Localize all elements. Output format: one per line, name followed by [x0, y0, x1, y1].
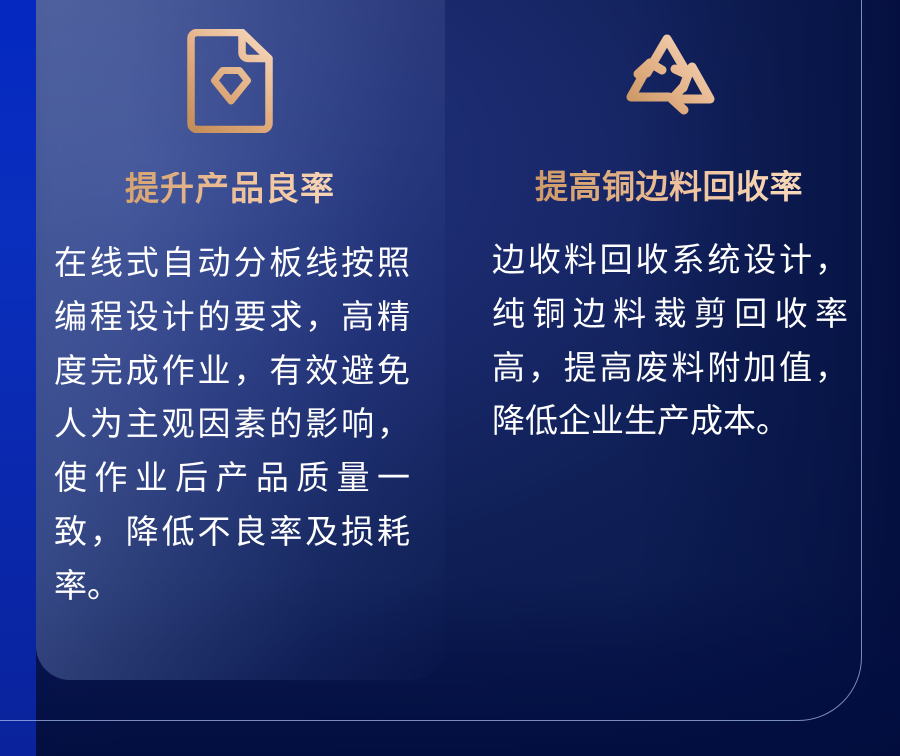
card-title: 提升产品良率	[48, 172, 412, 206]
recycle-icon	[488, 4, 850, 154]
card-title: 提高铜边料回收率	[488, 170, 850, 203]
document-diamond-icon	[48, 6, 412, 156]
feature-card-copper-recovery[interactable]: 提高铜边料回收率 边收料回收系统设计，纯铜边料裁剪回收率高，提高废料附加值，降低…	[450, 0, 900, 756]
cards-container: 提升产品良率 在线式自动分板线按照编程设计的要求，高精度完成作业，有效避免人为主…	[0, 0, 900, 756]
feature-card-improve-yield[interactable]: 提升产品良率 在线式自动分板线按照编程设计的要求，高精度完成作业，有效避免人为主…	[0, 0, 450, 756]
card-body-text: 边收料回收系统设计，纯铜边料裁剪回收率高，提高废料附加值，降低企业生产成本。	[488, 233, 850, 448]
feature-cards-banner: 提升产品良率 在线式自动分板线按照编程设计的要求，高精度完成作业，有效避免人为主…	[0, 0, 900, 756]
card-body-text: 在线式自动分板线按照编程设计的要求，高精度完成作业，有效避免人为主观因素的影响，…	[48, 236, 412, 612]
